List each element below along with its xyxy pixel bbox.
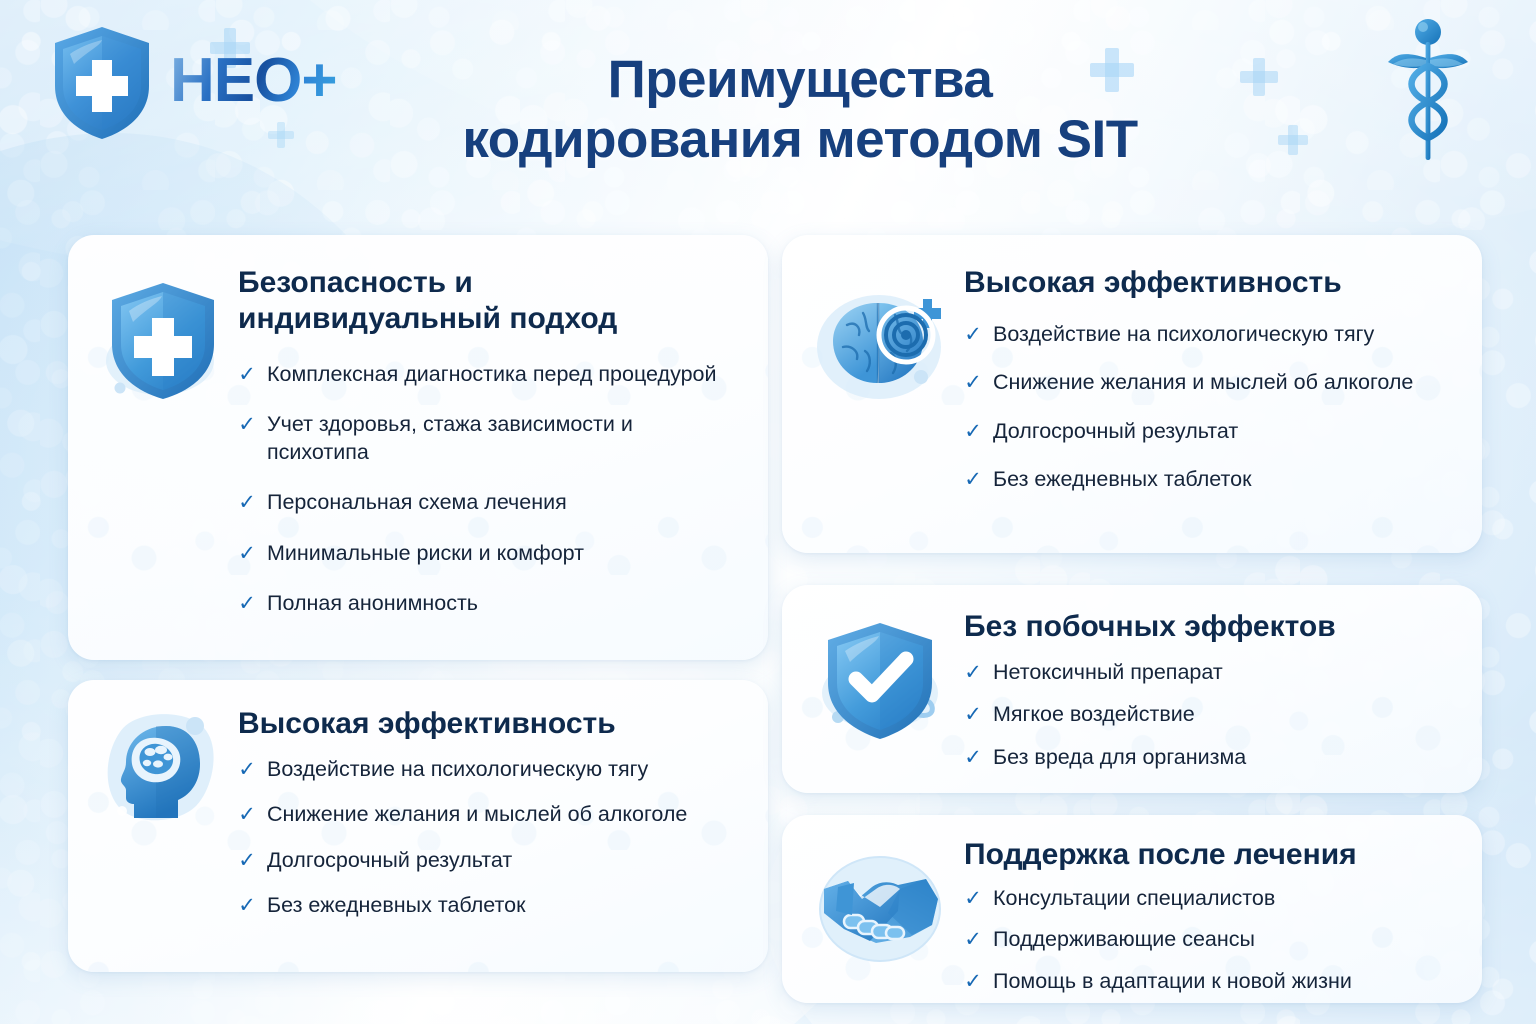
list-item-text: Снижение желания и мыслей об алкоголе — [993, 369, 1456, 397]
list-item-text: Комплексная диагностика перед процедурой — [267, 361, 740, 389]
benefit-list: ✓ Нетоксичный препарат ✓ Мягкое воздейст… — [964, 659, 1456, 772]
check-icon: ✓ — [964, 701, 982, 729]
benefit-list: ✓ Консультации специалистов ✓ Поддержива… — [964, 885, 1456, 996]
list-item: ✓ Без вреда для организма — [964, 744, 1456, 772]
check-icon: ✓ — [238, 801, 256, 829]
list-item: ✓ Без ежедневных таблеток — [964, 466, 1456, 494]
card-title: Высокая эффективность — [238, 706, 740, 742]
check-icon: ✓ — [238, 590, 256, 618]
check-icon: ✓ — [238, 489, 256, 517]
card-efficiency-left[interactable]: Высокая эффективность ✓ Воздействие на п… — [68, 680, 768, 972]
shield-cross-icon — [100, 275, 228, 405]
list-item: ✓ Комплексная диагностика перед процедур… — [238, 361, 740, 389]
list-item-text: Консультации специалистов — [993, 885, 1456, 913]
card-safety[interactable]: Безопасность и индивидуальный подход ✓ К… — [68, 235, 768, 660]
card-body: Безопасность и индивидуальный подход ✓ К… — [238, 265, 740, 636]
card-title: Безопасность и индивидуальный подход — [238, 265, 708, 337]
card-no-side-effects[interactable]: Без побочных эффектов ✓ Нетоксичный преп… — [782, 585, 1482, 793]
check-icon: ✓ — [238, 411, 256, 439]
card-body: Без побочных эффектов ✓ Нетоксичный преп… — [964, 609, 1456, 775]
check-icon: ✓ — [964, 659, 982, 687]
card-title: Высокая эффективность — [964, 265, 1456, 301]
list-item-text: Воздействие на психологическую тягу — [267, 756, 740, 784]
list-item: ✓ Воздействие на психологическую тягу — [964, 321, 1456, 349]
check-icon: ✓ — [238, 361, 256, 389]
list-item: ✓ Минимальные риски и комфорт — [238, 540, 740, 568]
list-item: ✓ Снижение желания и мыслей об алкоголе — [238, 801, 740, 829]
list-item: ✓ Консультации специалистов — [964, 885, 1456, 913]
check-icon: ✓ — [964, 321, 982, 349]
infographic-poster: НЕО+ Преимущества кодирования методом SI… — [0, 0, 1536, 1024]
brain-target-icon — [813, 281, 953, 407]
card-body: Высокая эффективность ✓ Воздействие на п… — [238, 706, 740, 952]
list-item-text: Поддерживающие сеансы — [993, 926, 1456, 954]
card-body: Поддержка после лечения ✓ Консультации с… — [964, 837, 1456, 987]
card-body: Высокая эффективность ✓ Воздействие на п… — [964, 265, 1456, 531]
card-title: Без побочных эффектов — [964, 609, 1456, 645]
list-item: ✓ Полная анонимность — [238, 590, 740, 618]
check-icon: ✓ — [238, 756, 256, 784]
check-icon: ✓ — [964, 968, 982, 996]
list-item-text: Снижение желания и мыслей об алкоголе — [267, 801, 740, 829]
list-item-text: Помощь в адаптации к новой жизни — [993, 968, 1456, 996]
handshake-icon — [814, 851, 952, 971]
check-icon: ✓ — [964, 369, 982, 397]
card-icon-wrapper — [90, 265, 238, 636]
check-icon: ✓ — [964, 926, 982, 954]
caduceus-icon — [1386, 16, 1470, 166]
check-icon: ✓ — [964, 885, 982, 913]
brand-wordmark: НЕО+ — [170, 50, 337, 116]
list-item: ✓ Без ежедневных таблеток — [238, 892, 740, 920]
list-item: ✓ Учет здоровья, стажа зависимости и пси… — [238, 411, 740, 467]
page-title-line-1: Преимущества — [330, 50, 1270, 110]
card-icon-wrapper — [802, 265, 964, 531]
list-item-text: Персональная схема лечения — [267, 489, 740, 517]
check-icon: ✓ — [238, 847, 256, 875]
list-item-text: Минимальные риски и комфорт — [267, 540, 740, 568]
right-column: Высокая эффективность ✓ Воздействие на п… — [782, 235, 1482, 1003]
shield-check-icon — [814, 617, 952, 745]
list-item: ✓ Поддерживающие сеансы — [964, 926, 1456, 954]
list-item-text: Долгосрочный результат — [267, 847, 740, 875]
brand-logo: НЕО+ — [48, 24, 337, 142]
check-icon: ✓ — [964, 418, 982, 446]
list-item: ✓ Мягкое воздействие — [964, 701, 1456, 729]
list-item: ✓ Нетоксичный препарат — [964, 659, 1456, 687]
check-icon: ✓ — [964, 466, 982, 494]
card-support[interactable]: Поддержка после лечения ✓ Консультации с… — [782, 815, 1482, 1003]
list-item-text: Мягкое воздействие — [993, 701, 1456, 729]
list-item: ✓ Персональная схема лечения — [238, 489, 740, 517]
card-title: Поддержка после лечения — [964, 837, 1456, 873]
list-item-text: Долгосрочный результат — [993, 418, 1456, 446]
list-item-text: Учет здоровья, стажа зависимости и психо… — [267, 411, 740, 467]
check-icon: ✓ — [238, 540, 256, 568]
benefit-list: ✓ Воздействие на психологическую тягу ✓ … — [238, 756, 740, 920]
list-item-text: Полная анонимность — [267, 590, 740, 618]
benefit-list: ✓ Комплексная диагностика перед процедур… — [238, 361, 740, 618]
shield-cross-icon — [48, 24, 156, 142]
list-item-text: Без ежедневных таблеток — [993, 466, 1456, 494]
head-brain-icon — [100, 712, 228, 832]
list-item: ✓ Помощь в адаптации к новой жизни — [964, 968, 1456, 996]
list-item-text: Без вреда для организма — [993, 744, 1456, 772]
card-icon-wrapper — [90, 706, 238, 952]
check-icon: ✓ — [238, 892, 256, 920]
page-title-line-2: кодирования методом SIT — [330, 110, 1270, 170]
card-icon-wrapper — [802, 837, 964, 987]
list-item: ✓ Воздействие на психологическую тягу — [238, 756, 740, 784]
check-icon: ✓ — [964, 744, 982, 772]
benefit-list: ✓ Воздействие на психологическую тягу ✓ … — [964, 321, 1456, 494]
left-column: Безопасность и индивидуальный подход ✓ К… — [68, 235, 768, 972]
list-item: ✓ Долгосрочный результат — [964, 418, 1456, 446]
list-item-text: Воздействие на психологическую тягу — [993, 321, 1456, 349]
page-title: Преимущества кодирования методом SIT — [330, 50, 1270, 171]
poster-header: НЕО+ Преимущества кодирования методом SI… — [0, 0, 1536, 215]
list-item: ✓ Долгосрочный результат — [238, 847, 740, 875]
list-item: ✓ Снижение желания и мыслей об алкоголе — [964, 369, 1456, 397]
list-item-text: Без ежедневных таблеток — [267, 892, 740, 920]
card-efficiency-right[interactable]: Высокая эффективность ✓ Воздействие на п… — [782, 235, 1482, 553]
list-item-text: Нетоксичный препарат — [993, 659, 1456, 687]
card-icon-wrapper — [802, 609, 964, 775]
